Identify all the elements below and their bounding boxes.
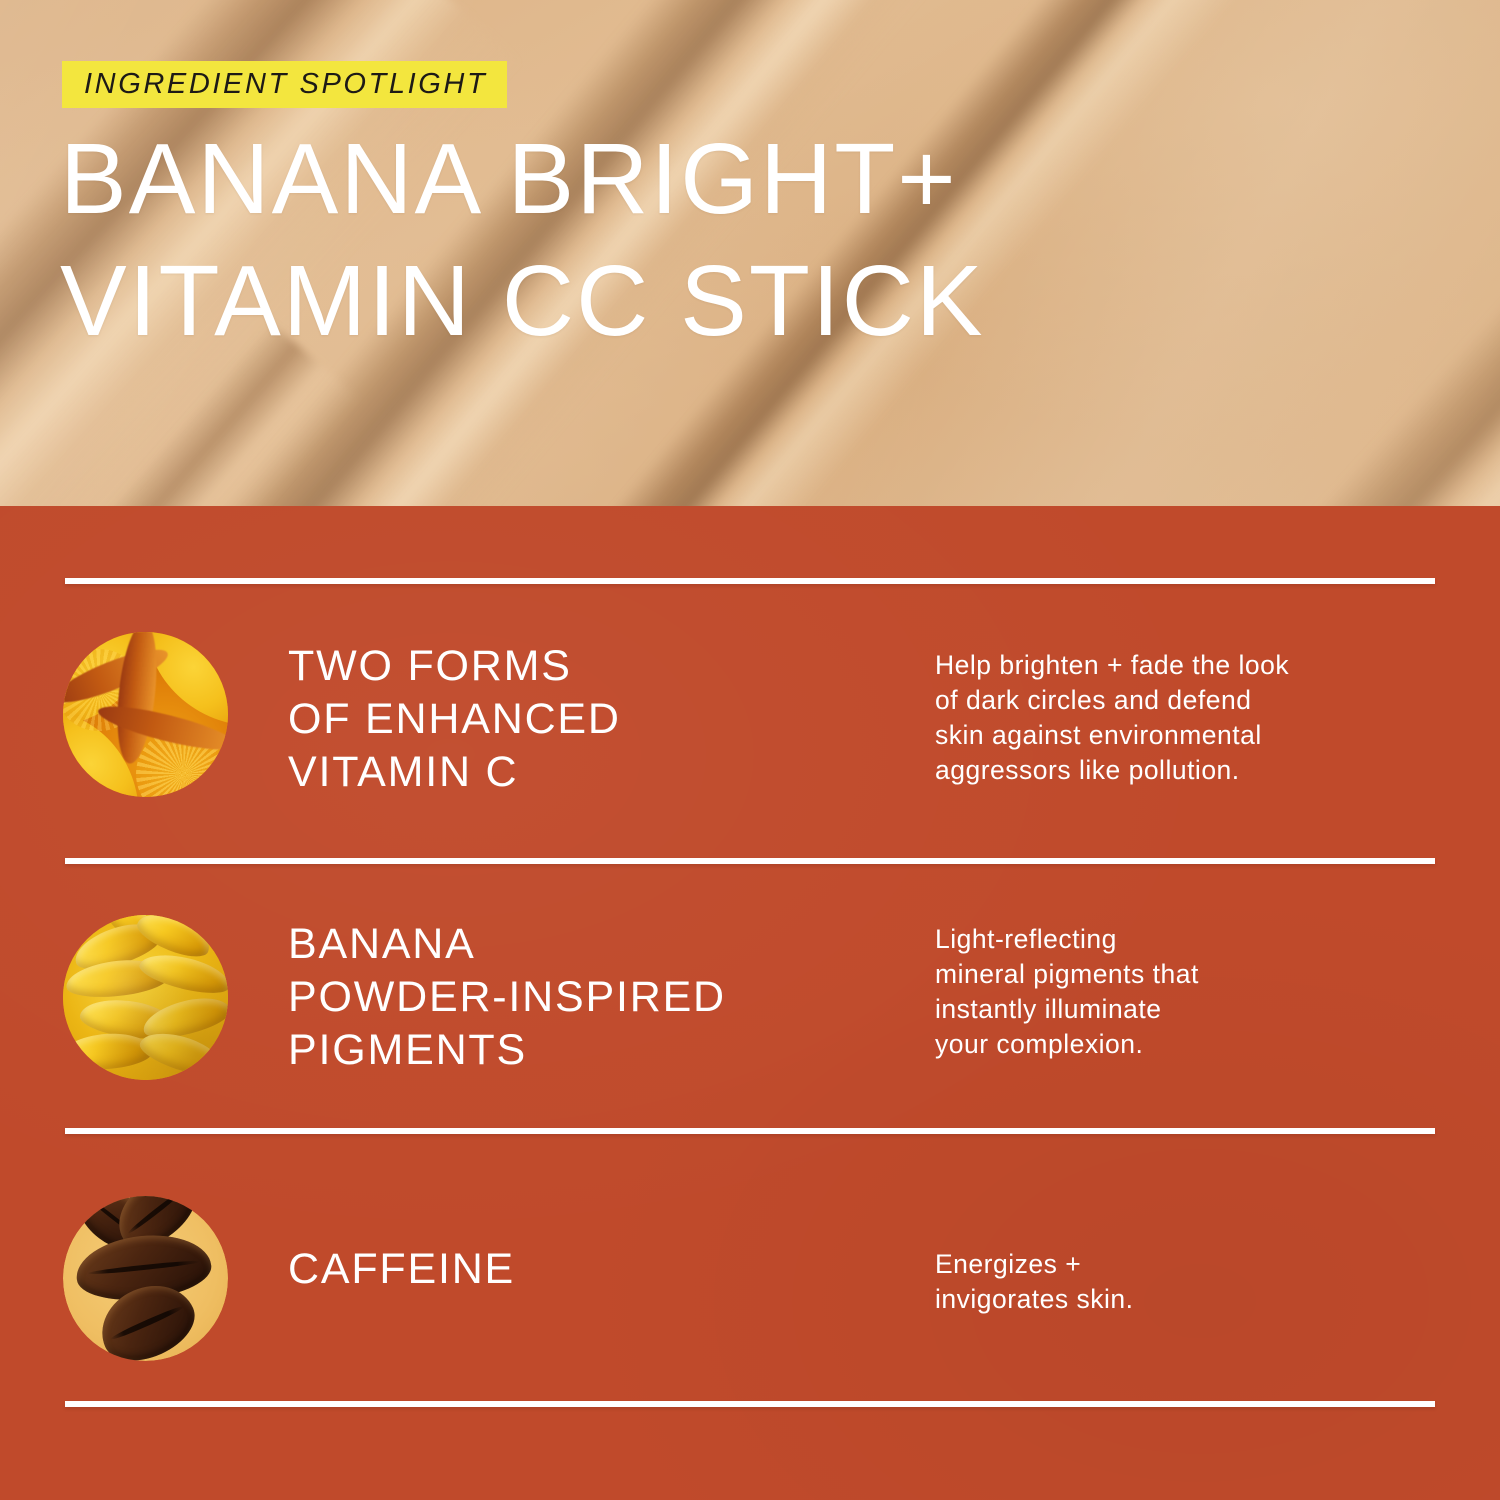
- ingredient-description-line: mineral pigments that: [935, 957, 1199, 992]
- ingredient-description-line: aggressors like pollution.: [935, 753, 1289, 788]
- ingredient-description-line: invigorates skin.: [935, 1282, 1134, 1317]
- ingredient-description-line: Energizes +: [935, 1247, 1134, 1282]
- ingredient-heading: CAFFEINE: [288, 1243, 515, 1296]
- ingredient-description-line: instantly illuminate: [935, 992, 1199, 1027]
- page-title: BANANA BRIGHT+ VITAMIN CC STICK: [60, 118, 985, 362]
- hero-banner: INGREDIENT SPOTLIGHT BANANA BRIGHT+ VITA…: [0, 0, 1500, 506]
- page-title-line-1: BANANA BRIGHT+: [60, 118, 985, 240]
- divider-bottom: [65, 1401, 1435, 1407]
- ingredient-description: Help brighten + fade the look of dark ci…: [935, 648, 1289, 788]
- divider-top: [65, 578, 1435, 584]
- eyebrow-label: INGREDIENT SPOTLIGHT: [84, 68, 487, 101]
- ingredient-description-line: skin against environmental: [935, 718, 1289, 753]
- ingredient-heading-line: CAFFEINE: [288, 1243, 515, 1296]
- ingredient-heading: TWO FORMS OF ENHANCED VITAMIN C: [288, 640, 621, 799]
- divider-row-2: [65, 1128, 1435, 1134]
- ingredient-heading-line: BANANA: [288, 918, 726, 971]
- ingredient-heading-line: TWO FORMS: [288, 640, 621, 693]
- divider-row-1: [65, 858, 1435, 864]
- bananas-icon: [63, 915, 228, 1080]
- ingredient-description: Energizes + invigorates skin.: [935, 1247, 1134, 1317]
- ingredient-heading: BANANA POWDER-INSPIRED PIGMENTS: [288, 918, 726, 1077]
- ingredient-spotlight-infographic: INGREDIENT SPOTLIGHT BANANA BRIGHT+ VITA…: [0, 0, 1500, 1500]
- ingredient-heading-line: OF ENHANCED: [288, 693, 621, 746]
- citrus-slices-icon: [63, 632, 228, 797]
- ingredient-description-line: of dark circles and defend: [935, 683, 1289, 718]
- ingredient-description-line: your complexion.: [935, 1027, 1199, 1062]
- ingredient-description: Light-reflecting mineral pigments that i…: [935, 922, 1199, 1062]
- page-title-line-2: VITAMIN CC STICK: [60, 240, 985, 362]
- ingredient-heading-line: PIGMENTS: [288, 1024, 726, 1077]
- eyebrow-badge: INGREDIENT SPOTLIGHT: [62, 61, 507, 108]
- ingredient-heading-line: POWDER-INSPIRED: [288, 971, 726, 1024]
- coffee-beans-icon: [63, 1196, 228, 1361]
- ingredient-heading-line: VITAMIN C: [288, 746, 621, 799]
- ingredient-description-line: Light-reflecting: [935, 922, 1199, 957]
- ingredient-description-line: Help brighten + fade the look: [935, 648, 1289, 683]
